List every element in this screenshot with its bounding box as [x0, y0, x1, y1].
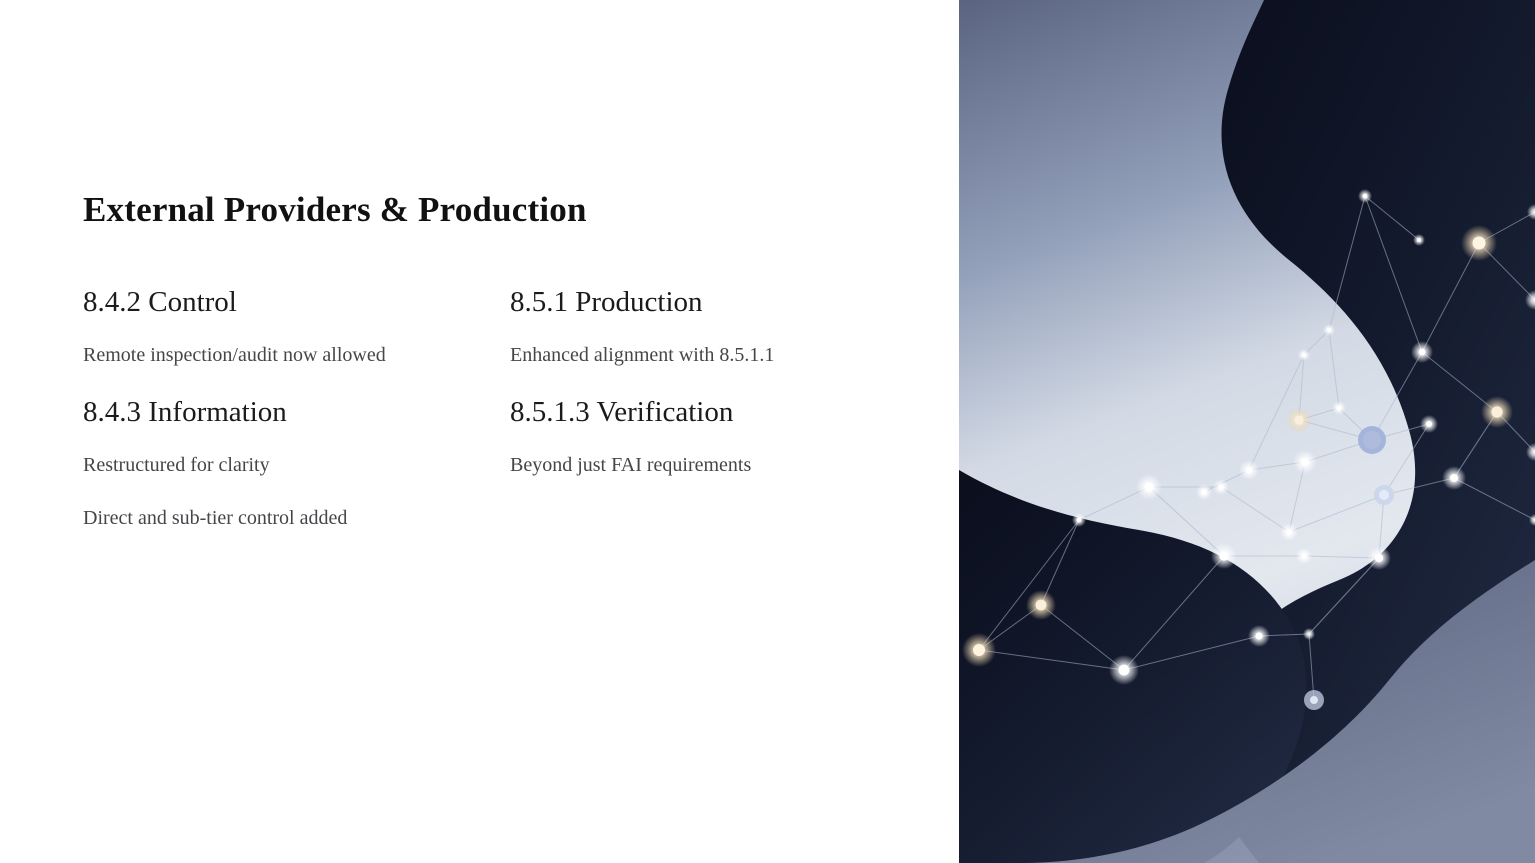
content-column-left: 8.4.2 Control Remote inspection/audit no…	[83, 286, 473, 533]
spacer	[83, 429, 473, 451]
section-heading-8-5-1-3: 8.5.1.3 Verification	[510, 396, 910, 429]
section-body-8-5-1: Enhanced alignment with 8.5.1.1	[510, 341, 910, 369]
network-constellation-icon	[959, 0, 1535, 863]
slide-canvas: External Providers & Production 8.4.2 Co…	[0, 0, 1535, 863]
spacer	[83, 319, 473, 341]
spacer	[510, 370, 910, 396]
slide-content-area: External Providers & Production 8.4.2 Co…	[0, 0, 959, 863]
section-body-8-4-3-a: Restructured for clarity	[83, 451, 473, 479]
section-body-8-5-1-3: Beyond just FAI requirements	[510, 451, 910, 479]
page-title: External Providers & Production	[83, 190, 587, 230]
spacer	[510, 319, 910, 341]
section-heading-8-4-2: 8.4.2 Control	[83, 286, 473, 319]
spacer	[83, 370, 473, 396]
spacer	[510, 429, 910, 451]
section-body-8-4-3-b: Direct and sub-tier control added	[83, 504, 473, 532]
section-body-8-4-2: Remote inspection/audit now allowed	[83, 341, 473, 369]
decorative-artwork-panel	[959, 0, 1535, 863]
spacer	[83, 479, 473, 504]
content-column-right: 8.5.1 Production Enhanced alignment with…	[510, 286, 910, 479]
section-heading-8-4-3: 8.4.3 Information	[83, 396, 473, 429]
section-heading-8-5-1: 8.5.1 Production	[510, 286, 910, 319]
